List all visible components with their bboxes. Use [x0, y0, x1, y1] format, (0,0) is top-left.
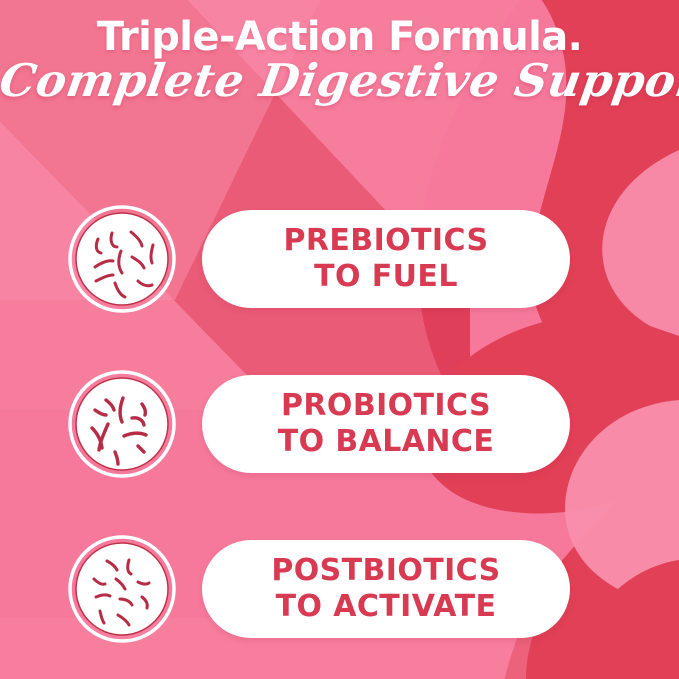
- benefit-rows: PREBIOTICS TO FUEL: [0, 176, 679, 671]
- benefit-row: PROBIOTICS TO BALANCE: [0, 341, 679, 506]
- benefit-line-1: PROBIOTICS: [281, 388, 491, 423]
- benefit-line-2: TO FUEL: [314, 259, 458, 294]
- benefit-line-2: TO ACTIVATE: [276, 589, 497, 624]
- benefit-line-1: POSTBIOTICS: [271, 553, 500, 588]
- benefit-pill[interactable]: PROBIOTICS TO BALANCE: [202, 375, 570, 473]
- product-benefits-poster: Triple-Action Formula. Complete Digestiv…: [0, 0, 679, 679]
- benefit-row: PREBIOTICS TO FUEL: [0, 176, 679, 341]
- bacteria-dish-icon: [68, 535, 176, 643]
- benefit-line-2: TO BALANCE: [278, 424, 494, 459]
- bacteria-dish-icon: [68, 370, 176, 478]
- benefit-row: POSTBIOTICS TO ACTIVATE: [0, 506, 679, 671]
- benefit-line-1: PREBIOTICS: [284, 223, 489, 258]
- benefit-pill[interactable]: PREBIOTICS TO FUEL: [202, 210, 570, 308]
- benefit-pill[interactable]: POSTBIOTICS TO ACTIVATE: [202, 540, 570, 638]
- bacteria-dish-icon: [68, 205, 176, 313]
